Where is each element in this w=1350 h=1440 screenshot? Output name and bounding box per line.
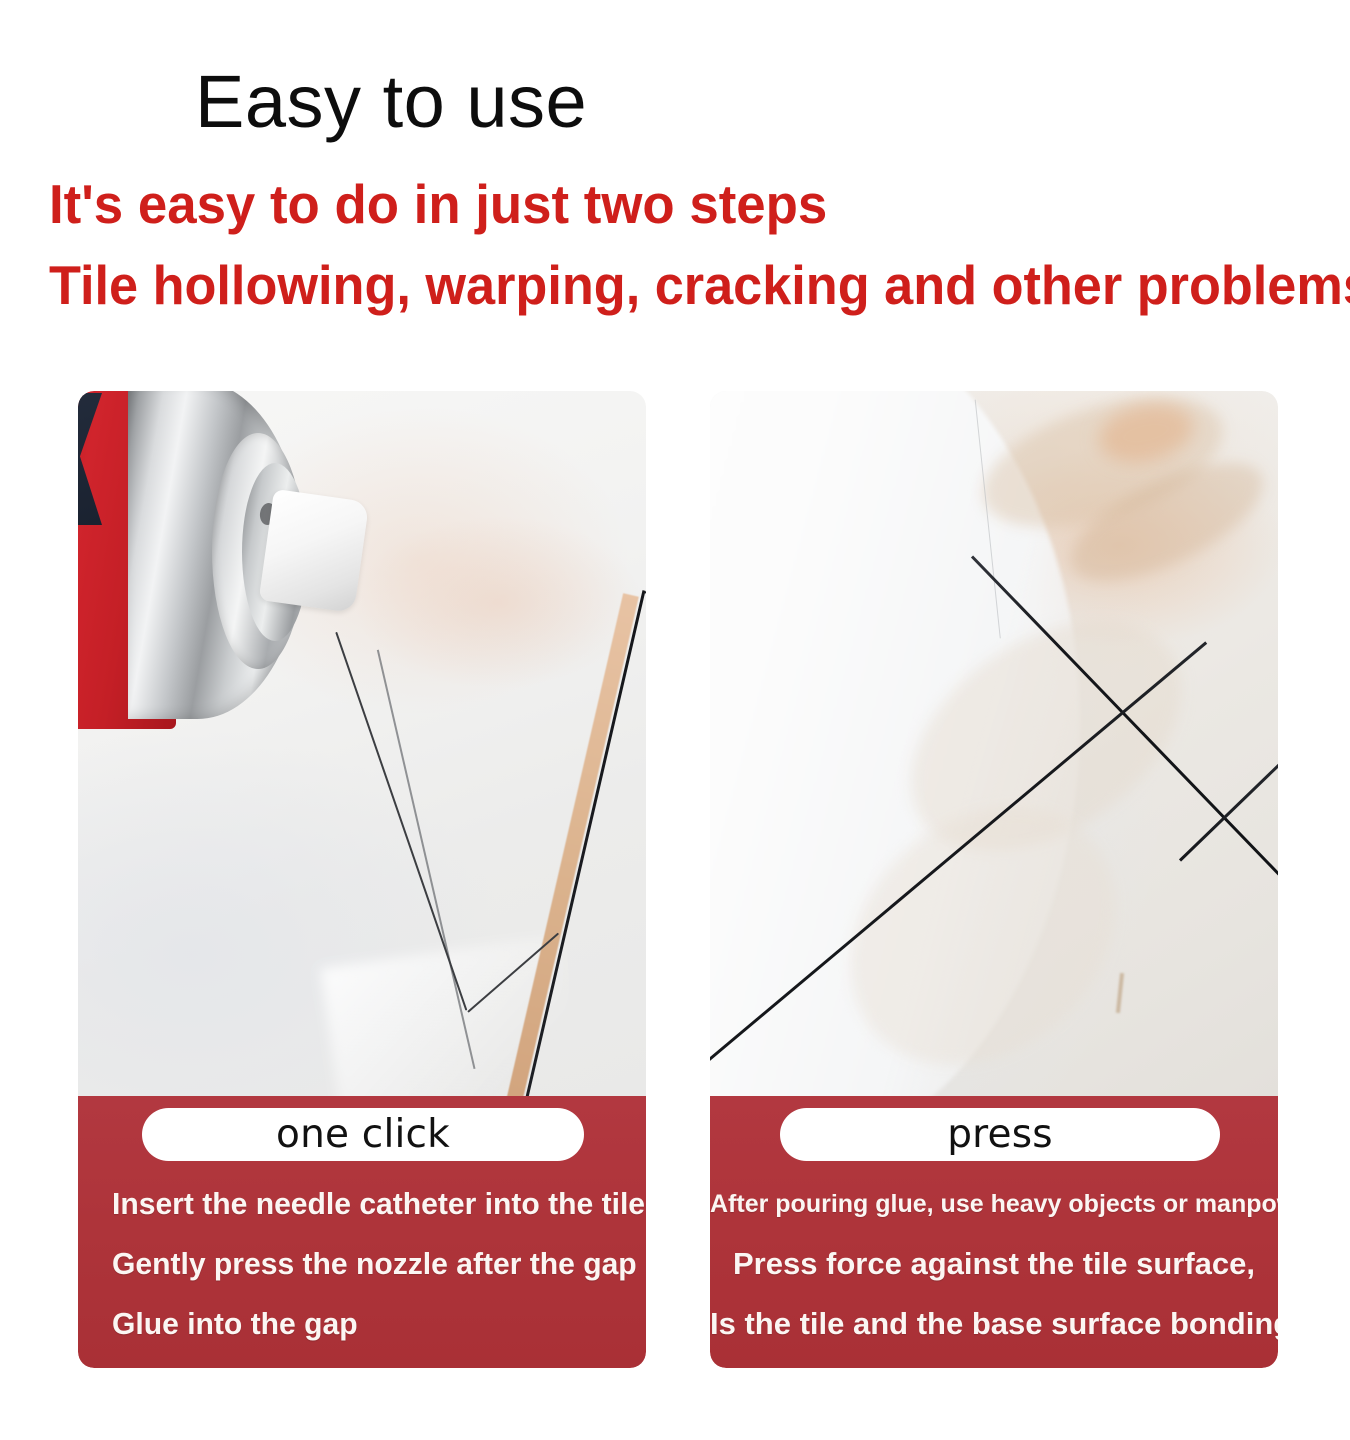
spray-can-icon bbox=[78, 391, 374, 729]
step-card-press: press After pouring glue, use heavy obje… bbox=[710, 391, 1278, 1368]
step-caption-one-click: one click Insert the needle catheter int… bbox=[78, 1096, 646, 1368]
subtitle-line-2: Tile hollowing, warping, cracking and ot… bbox=[49, 253, 1350, 317]
grout-line-branch bbox=[644, 591, 646, 636]
grout-line-upper-right bbox=[1179, 720, 1278, 861]
step-description-press: After pouring glue, use heavy objects or… bbox=[710, 1174, 1278, 1354]
can-white-nozzle bbox=[259, 489, 370, 613]
page-title: Easy to use bbox=[195, 58, 587, 146]
step-description-one-click: Insert the needle catheter into the tile… bbox=[78, 1174, 646, 1354]
tile-fleck bbox=[1116, 973, 1124, 1013]
step-description-line: Press force against the tile surface, bbox=[710, 1234, 1278, 1294]
step-badge-press[interactable]: press bbox=[780, 1108, 1220, 1161]
step-description-line: Gently press the nozzle after the gap bbox=[112, 1234, 630, 1294]
step-card-one-click: one click Insert the needle catheter int… bbox=[78, 391, 646, 1368]
subtitle-line-1: It's easy to do in just two steps bbox=[49, 172, 827, 236]
step-photo-press bbox=[710, 391, 1278, 1096]
step-badge-label: one click bbox=[276, 1115, 450, 1154]
step-badge-one-click[interactable]: one click bbox=[142, 1108, 584, 1161]
step-caption-press: press After pouring glue, use heavy obje… bbox=[710, 1096, 1278, 1368]
step-description-line: After pouring glue, use heavy objects or… bbox=[710, 1174, 1278, 1234]
step-description-line: Is the tile and the base surface bonding bbox=[710, 1294, 1278, 1354]
step-description-line: Insert the needle catheter into the tile bbox=[112, 1174, 630, 1234]
step-photo-one-click bbox=[78, 391, 646, 1096]
step-badge-label: press bbox=[947, 1115, 1053, 1154]
step-description-line: Glue into the gap bbox=[112, 1294, 630, 1354]
